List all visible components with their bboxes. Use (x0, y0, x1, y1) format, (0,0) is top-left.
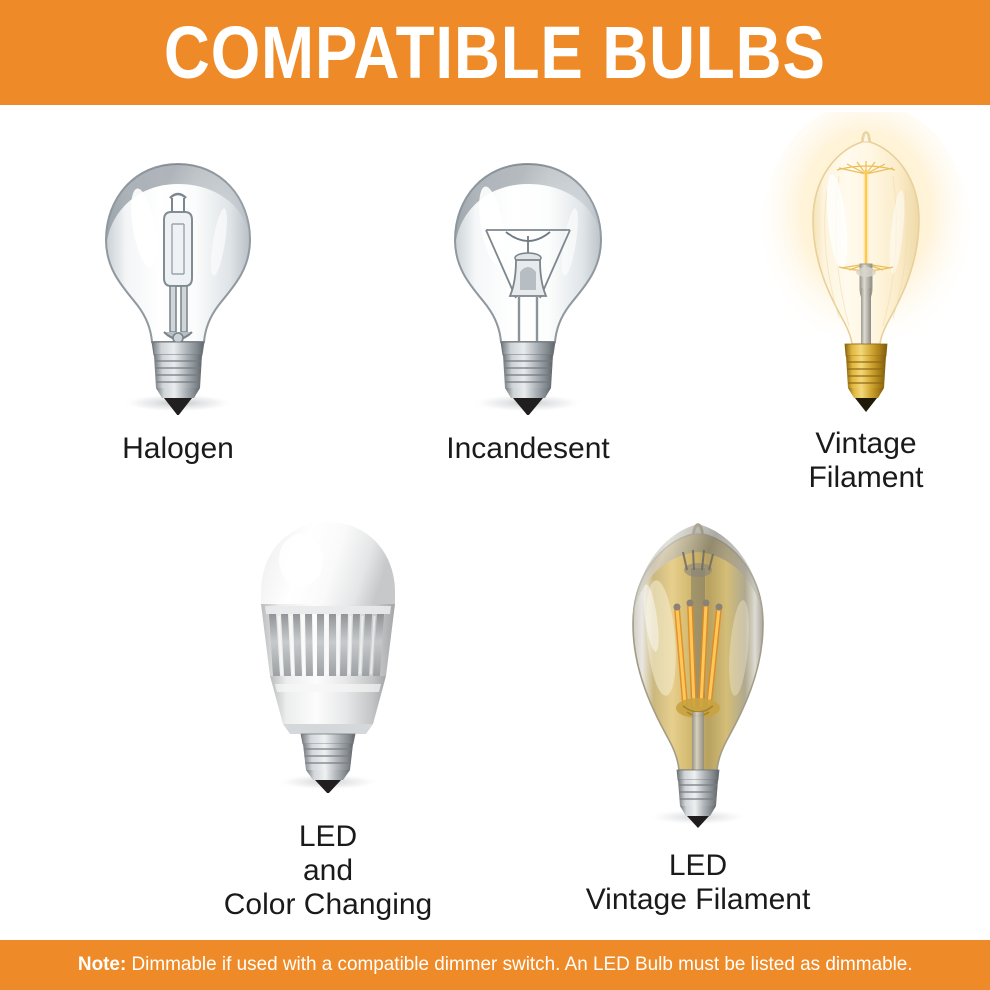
bulb-card-led-vintage-filament: LED Vintage Filament (548, 508, 848, 917)
note-body: Dimmable if used with a compatible dimme… (126, 953, 912, 975)
page-title: COMPATIBLE BULBS (164, 16, 826, 90)
bulb-label-led-vintage-filament: LED Vintage Filament (586, 849, 811, 917)
footer-note-text: Note: Dimmable if used with a compatible… (78, 955, 913, 975)
vintage-filament-bulb-icon (761, 112, 971, 417)
bulb-card-vintage-filament: Vintage Filament (736, 112, 990, 495)
bulb-label-incandescent: Incandesent (446, 432, 609, 466)
bulb-card-led: LED and Color Changing (178, 508, 478, 922)
bulb-card-halogen: Halogen (48, 150, 308, 466)
header-banner: COMPATIBLE BULBS (0, 0, 990, 105)
bulb-card-incandescent: Incandesent (398, 150, 658, 466)
incandescent-bulb-icon (428, 150, 628, 420)
footer-note-banner: Note: Dimmable if used with a compatible… (0, 940, 990, 990)
led-vintage-filament-bulb-icon (591, 508, 806, 833)
bulb-label-halogen: Halogen (122, 432, 234, 466)
infographic-page: COMPATIBLE BULBS (0, 0, 990, 990)
bulb-label-led: LED and Color Changing (224, 820, 432, 922)
halogen-bulb-icon (78, 150, 278, 420)
note-label: Note: (78, 953, 126, 975)
bulb-label-vintage-filament: Vintage Filament (808, 427, 923, 495)
led-bulb-icon (223, 508, 433, 798)
